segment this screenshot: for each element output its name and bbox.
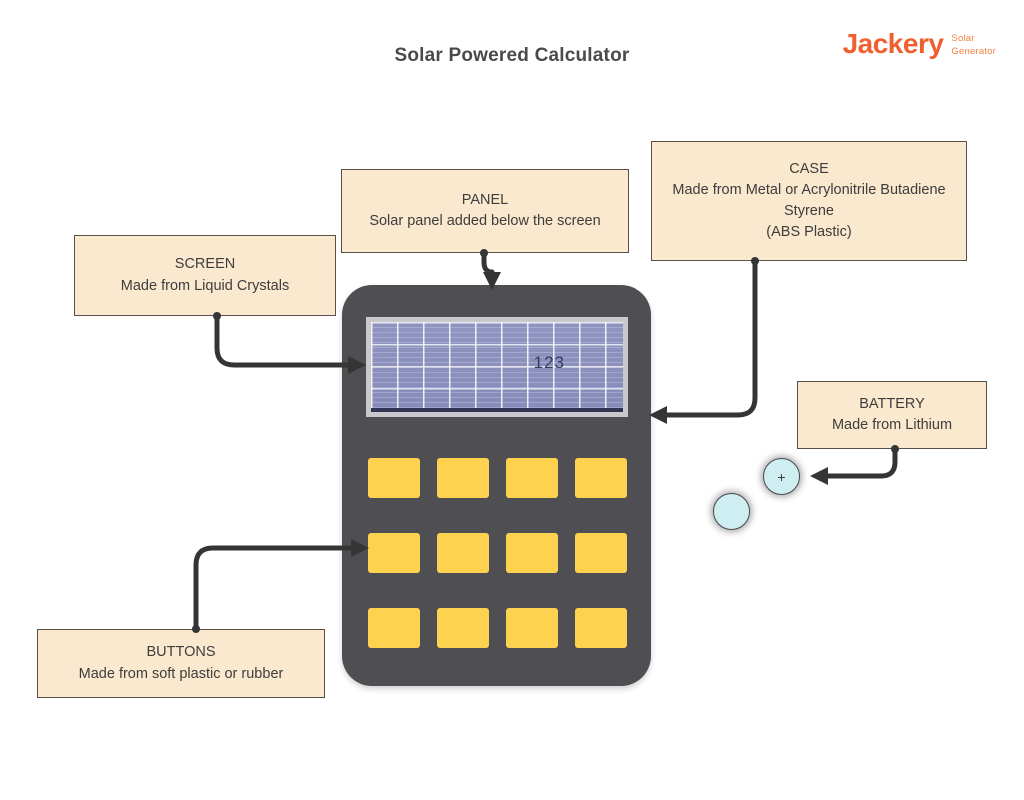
note-screen-line1: Made from Liquid Crystals [121,276,289,297]
arrowhead-case [649,406,667,424]
calc-key[interactable] [437,533,489,573]
jackery-tagline: Solar Generator [951,30,996,59]
calc-key[interactable] [575,533,627,573]
note-screen: SCREEN Made from Liquid Crystals [74,235,336,316]
calculator-screen: 123 [366,317,628,417]
jackery-wordmark: Jackery [843,30,944,58]
note-battery-line1: Made from Lithium [832,415,952,436]
calc-key[interactable] [506,608,558,648]
calc-key[interactable] [368,458,420,498]
note-panel: PANEL Solar panel added below the screen [341,169,629,253]
calc-key[interactable] [437,458,489,498]
jackery-logo: Jackery Solar Generator [843,30,996,59]
calc-key[interactable] [437,608,489,648]
note-panel-title: PANEL [462,190,508,211]
note-case-line2: Styrene [784,201,834,222]
note-battery-title: BATTERY [859,394,925,415]
solar-panel-grid [371,322,623,412]
screen-bottom-bar [371,408,623,412]
note-battery: BATTERY Made from Lithium [797,381,987,449]
note-buttons: BUTTONS Made from soft plastic or rubber [37,629,325,698]
calc-key[interactable] [506,533,558,573]
note-panel-line1: Solar panel added below the screen [369,211,600,232]
connector-battery [824,449,895,476]
arrowhead-battery [810,467,828,485]
calculator-body: 123 [342,285,651,686]
calc-key[interactable] [368,608,420,648]
jackery-tagline-line1: Solar [951,33,974,44]
connector-buttons [196,548,355,629]
note-screen-title: SCREEN [175,254,235,275]
note-buttons-line1: Made from soft plastic or rubber [79,664,284,685]
battery-cell-positive: + [763,458,800,495]
screen-display-value: 123 [534,353,565,373]
note-buttons-title: BUTTONS [146,642,215,663]
note-case: CASE Made from Metal or Acrylonitrile Bu… [651,141,967,261]
calculator-keypad[interactable] [368,458,628,648]
note-case-line1: Made from Metal or Acrylonitrile Butadie… [672,180,945,201]
calc-key[interactable] [368,533,420,573]
note-case-line3: (ABS Plastic) [766,222,851,243]
connector-case [663,261,755,415]
calc-key[interactable] [506,458,558,498]
connector-screen [217,316,352,365]
calc-key[interactable] [575,458,627,498]
calc-key[interactable] [575,608,627,648]
note-case-title: CASE [789,159,829,180]
battery-cell-negative [713,493,750,530]
connector-panel [484,253,492,277]
jackery-tagline-line2: Generator [951,46,996,57]
